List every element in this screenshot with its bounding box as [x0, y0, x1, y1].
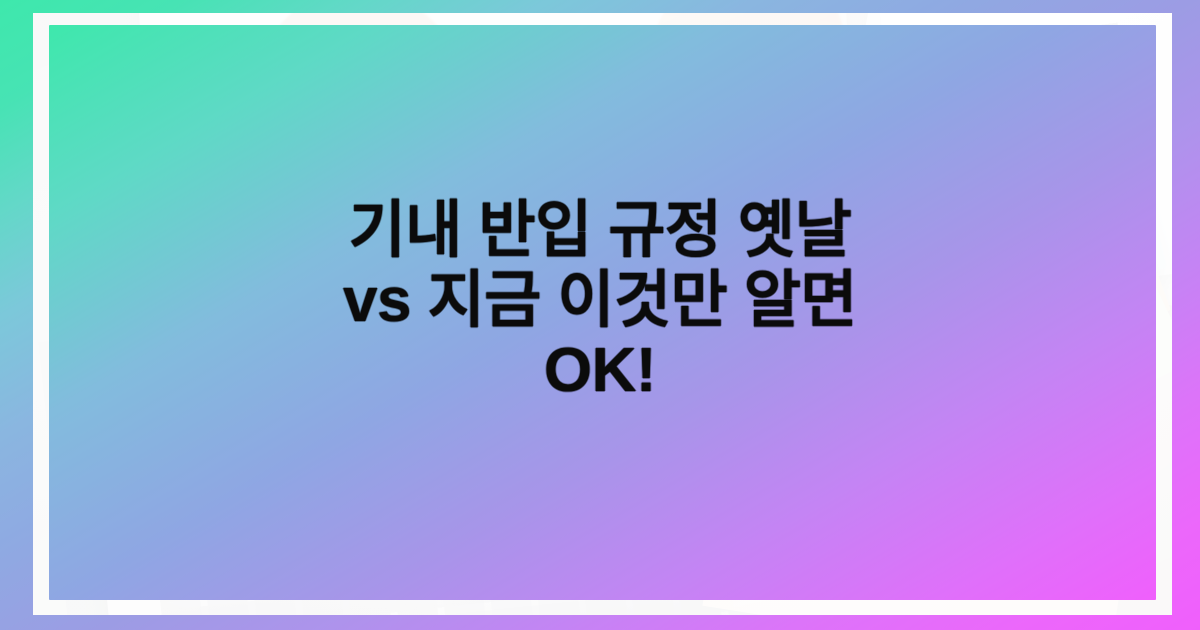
title-line-3: OK! — [150, 336, 1050, 406]
thumbnail-banner: 5 EURO 기내 반입 규정 옛날 vs 지금 — [0, 0, 1200, 630]
page-title: 기내 반입 규정 옛날 vs 지금 이것만 알면 OK! — [0, 196, 1200, 406]
title-line-1: 기내 반입 규정 옛날 — [150, 196, 1050, 266]
title-line-2: vs 지금 이것만 알면 — [150, 266, 1050, 336]
